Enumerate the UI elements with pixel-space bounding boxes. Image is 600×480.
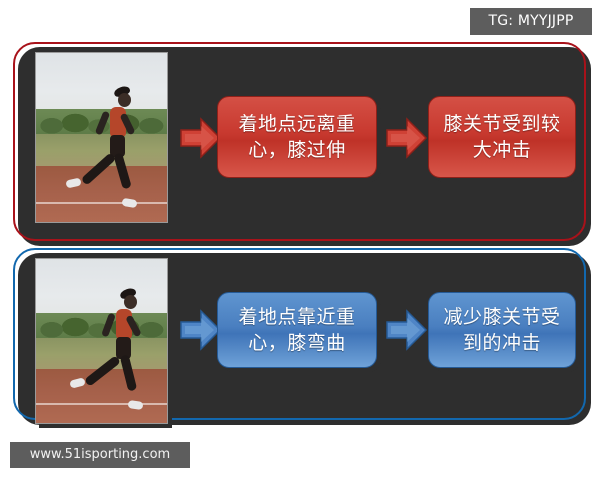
site-watermark: www.51isporting.com	[10, 442, 190, 468]
runner-head	[118, 93, 131, 107]
red-step-2[interactable]: 膝关节受到较大冲击	[428, 96, 576, 178]
red-step-1[interactable]: 着地点远离重心，膝过伸	[217, 96, 377, 178]
photo-lane-line	[36, 202, 167, 204]
runner-head	[124, 295, 137, 309]
blue-step-1[interactable]: 着地点靠近重心，膝弯曲	[217, 292, 377, 368]
photo-track	[36, 166, 167, 222]
arrow-blue-1	[181, 308, 221, 352]
arrow-red-2	[387, 116, 427, 160]
photo-lane-line	[36, 403, 167, 405]
photo-sky	[36, 53, 167, 117]
arrow-red-1	[181, 116, 221, 160]
blue-step-2[interactable]: 减少膝关节受到的冲击	[428, 292, 576, 368]
arrow-blue-2	[387, 308, 427, 352]
runner-photo-correct	[35, 258, 168, 424]
diagram-canvas: 着地点远离重心，膝过伸 膝关节受到较大冲击 着地点靠近重心，膝弯曲	[0, 0, 600, 480]
runner-photo-incorrect	[35, 52, 168, 223]
tg-tag-label: TG: MYYJJPP	[470, 8, 592, 35]
photo-sky	[36, 259, 167, 321]
